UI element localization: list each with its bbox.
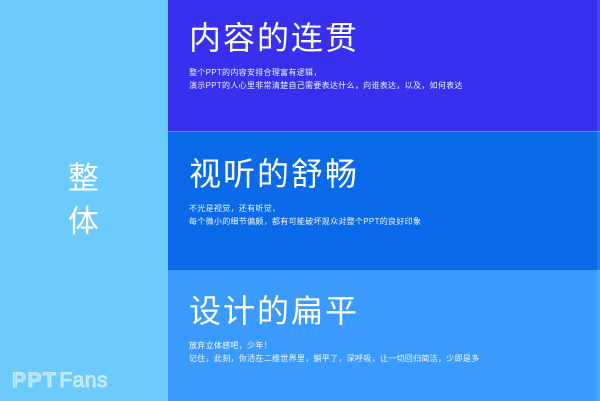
panel-audiovisual-comfort[interactable]: 视听的舒畅 不光是视觉，还有听觉， 每个微小的细节偏颇，都有可能破坏观众对整个P… [168,132,600,270]
panel-stack: 内容的连贯 整个PPT的内容安排合理富有逻辑， 演示PPT的人心里非常清楚自己需… [168,0,600,401]
sidebar: 整 体 PPT Fans [0,0,168,401]
panel-flat-design[interactable]: 设计的扁平 放弃立体感吧，少年！ 记住，此刻，你活在二维世界里，躺平了，深呼吸，… [168,271,600,401]
panel-title: 内容的连贯 [189,22,600,54]
sidebar-vertical-title: 整 体 [0,0,168,401]
logo-text-fans: Fans [59,370,108,391]
sidebar-title-char-2: 体 [68,201,100,244]
panel-title: 视听的舒畅 [189,158,600,190]
presentation-slide: 整 体 PPT Fans 内容的连贯 整个PPT的内容安排合理富有逻辑， 演示P… [0,0,600,401]
pptfans-logo: PPT Fans [12,370,108,391]
panel-description: 整个PPT的内容安排合理富有逻辑， 演示PPT的人心里非常清楚自己需要表达什么，… [189,66,600,92]
panel-content-coherence[interactable]: 内容的连贯 整个PPT的内容安排合理富有逻辑， 演示PPT的人心里非常清楚自己需… [168,0,600,131]
panel-description: 放弃立体感吧，少年！ 记住，此刻，你活在二维世界里，躺平了，深呼吸，让一切回归简… [189,339,600,365]
panel-description-line-1: 不光是视觉，还有听觉， [189,202,600,215]
logo-text-ppt: PPT [12,370,57,391]
sidebar-title-char-1: 整 [68,158,100,201]
panel-description-line-2: 每个微小的细节偏颇，都有可能破坏观众对整个PPT的良好印象 [189,215,600,228]
panel-description: 不光是视觉，还有听觉， 每个微小的细节偏颇，都有可能破坏观众对整个PPT的良好印… [189,202,600,228]
panel-description-line-2: 记住，此刻，你活在二维世界里，躺平了，深呼吸，让一切回归简洁，少即是多 [189,352,600,365]
panel-description-line-1: 放弃立体感吧，少年！ [189,339,600,352]
panel-description-line-1: 整个PPT的内容安排合理富有逻辑， [189,66,600,79]
panel-title: 设计的扁平 [189,295,600,327]
panel-description-line-2: 演示PPT的人心里非常清楚自己需要表达什么，向谁表达，以及，如何表达 [189,79,600,92]
